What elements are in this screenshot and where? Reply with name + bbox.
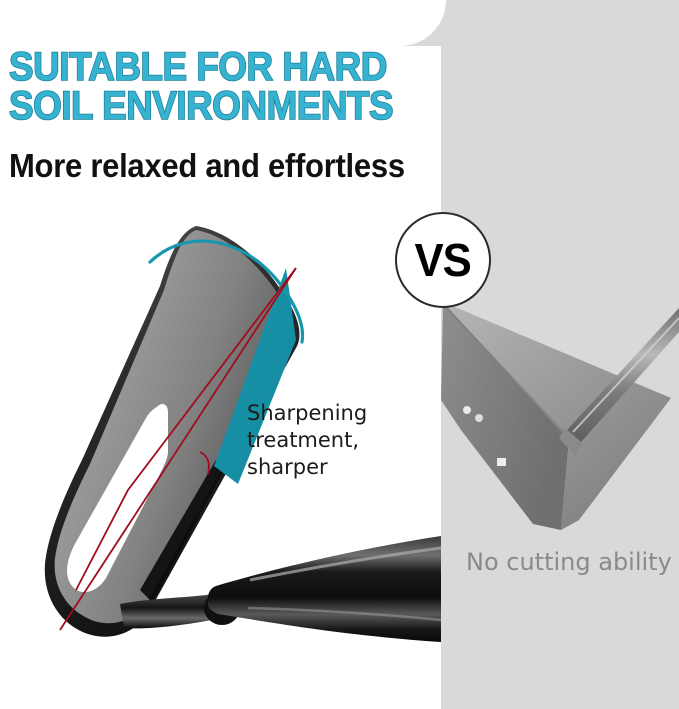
vs-badge: VS bbox=[395, 212, 491, 308]
comparison-infographic: SUITABLE FOR HARD SOIL ENVIRONMENTS More… bbox=[0, 0, 679, 709]
rivet-icon bbox=[463, 406, 471, 414]
rivet-icon bbox=[475, 414, 483, 422]
sharpening-annotation: Sharpening treatment, sharper bbox=[247, 400, 422, 481]
right-product-caption: No cutting ability bbox=[466, 548, 676, 576]
headline-line-2: SOIL ENVIRONMENTS bbox=[9, 87, 405, 126]
subtitle: More relaxed and effortless bbox=[9, 149, 413, 182]
right-product-image bbox=[441, 280, 679, 570]
right-tool-illustration bbox=[441, 280, 679, 570]
headline-line-1: SUITABLE FOR HARD bbox=[9, 48, 405, 87]
annotation-line-1: Sharpening bbox=[247, 400, 422, 427]
rivet-icon bbox=[497, 458, 506, 466]
vs-label: VS bbox=[415, 233, 471, 287]
annotation-line-2: treatment, bbox=[247, 427, 422, 454]
annotation-line-3: sharper bbox=[247, 454, 422, 481]
page-title: SUITABLE FOR HARD SOIL ENVIRONMENTS bbox=[9, 48, 405, 126]
panel-corner-notch bbox=[400, 0, 446, 46]
